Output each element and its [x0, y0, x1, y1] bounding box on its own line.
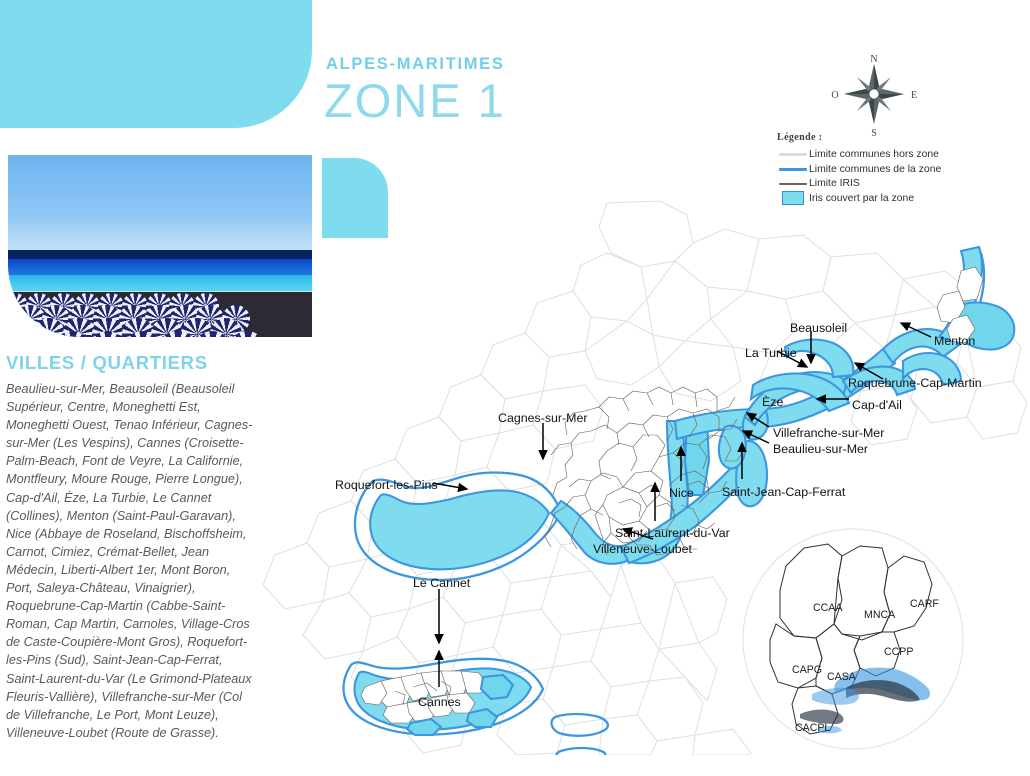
- map-label-eze: Èze: [762, 395, 783, 409]
- compass-east-label: E: [911, 90, 917, 101]
- inset-code-cacpl: CACPL: [795, 722, 830, 734]
- map-label-saint-jean-cap-ferrat: Saint-Jean-Cap-Ferrat: [722, 485, 845, 499]
- map-label-roquebrune-cap-martin: Roquebrune-Cap-Martin: [848, 376, 982, 390]
- inset-code-ccaa: CCAA: [813, 602, 843, 614]
- legend-key-mark: [779, 153, 807, 156]
- inset-overview-map: CCAAMNCACARFCCPPCAPGCASACACPL: [742, 528, 964, 750]
- map-label-beaulieu-sur-mer: Beaulieu-sur-Mer: [773, 442, 868, 456]
- map-label-la-turbie: La Turbie: [745, 346, 797, 360]
- map-label-cannes: Cannes: [418, 695, 461, 709]
- compass-north-label: N: [870, 54, 877, 65]
- map-label-cagnes-sur-mer: Cagnes-sur-Mer: [498, 411, 588, 425]
- map-label-beausoleil: Beausoleil: [790, 321, 847, 335]
- legend-item-2: Limite IRIS: [777, 177, 977, 191]
- teal-header-block: [0, 0, 312, 128]
- map-label-roquefort-les-pins: Roquefort-les-Pins: [335, 478, 438, 492]
- map-label-nice: Nice: [669, 486, 694, 500]
- map-label-villeneuve-loubet: Villeneuve-Loubet: [593, 542, 692, 556]
- map-label-saint-laurent-du-var: Saint-Laurent-du-Var: [615, 526, 730, 540]
- legend-item-label: Limite communes de la zone: [809, 164, 941, 175]
- legend-line-icon: [777, 153, 809, 156]
- legend-item-1: Limite communes de la zone: [777, 163, 977, 177]
- legend-key-mark: [779, 168, 807, 171]
- legend-item-label: Limite communes hors zone: [809, 149, 939, 160]
- legend-item-label: Limite IRIS: [809, 178, 860, 189]
- villes-quartiers-heading: VILLES / QUARTIERS: [6, 352, 254, 374]
- inset-code-casa: CASA: [827, 671, 857, 683]
- inset-circle: [743, 529, 963, 749]
- legend-key-mark: [779, 183, 807, 185]
- map-label-cap-d-ail: Cap-d'Ail: [852, 398, 902, 412]
- map-label-villefranche-sur-mer: Villefranche-sur-Mer: [773, 426, 884, 440]
- compass-rose-icon: N S E O: [826, 48, 922, 140]
- legend-line-icon: [777, 168, 809, 171]
- map-label-menton: Menton: [934, 334, 975, 348]
- page-title: ZONE 1: [324, 76, 506, 125]
- villes-quartiers-list: Beaulieu-sur-Mer, Beausoleil (Beausoleil…: [6, 380, 254, 742]
- villes-quartiers-section: VILLES / QUARTIERS Beaulieu-sur-Mer, Bea…: [6, 352, 254, 742]
- legend-item-0: Limite communes hors zone: [777, 148, 977, 162]
- inset-code-carf: CARF: [910, 598, 939, 610]
- map-label-le-cannet: Le Cannet: [413, 576, 470, 590]
- inset-code-mnca: MNCA: [864, 609, 896, 621]
- legend-line-icon: [777, 183, 809, 185]
- inset-code-capg: CAPG: [792, 664, 822, 676]
- page-header: ALPES-MARITIMES ZONE 1: [324, 55, 506, 125]
- department-subtitle: ALPES-MARITIMES: [326, 55, 506, 74]
- compass-west-label: O: [831, 90, 838, 101]
- legend-title: Légende :: [777, 132, 977, 143]
- inset-code-ccpp: CCPP: [884, 646, 913, 658]
